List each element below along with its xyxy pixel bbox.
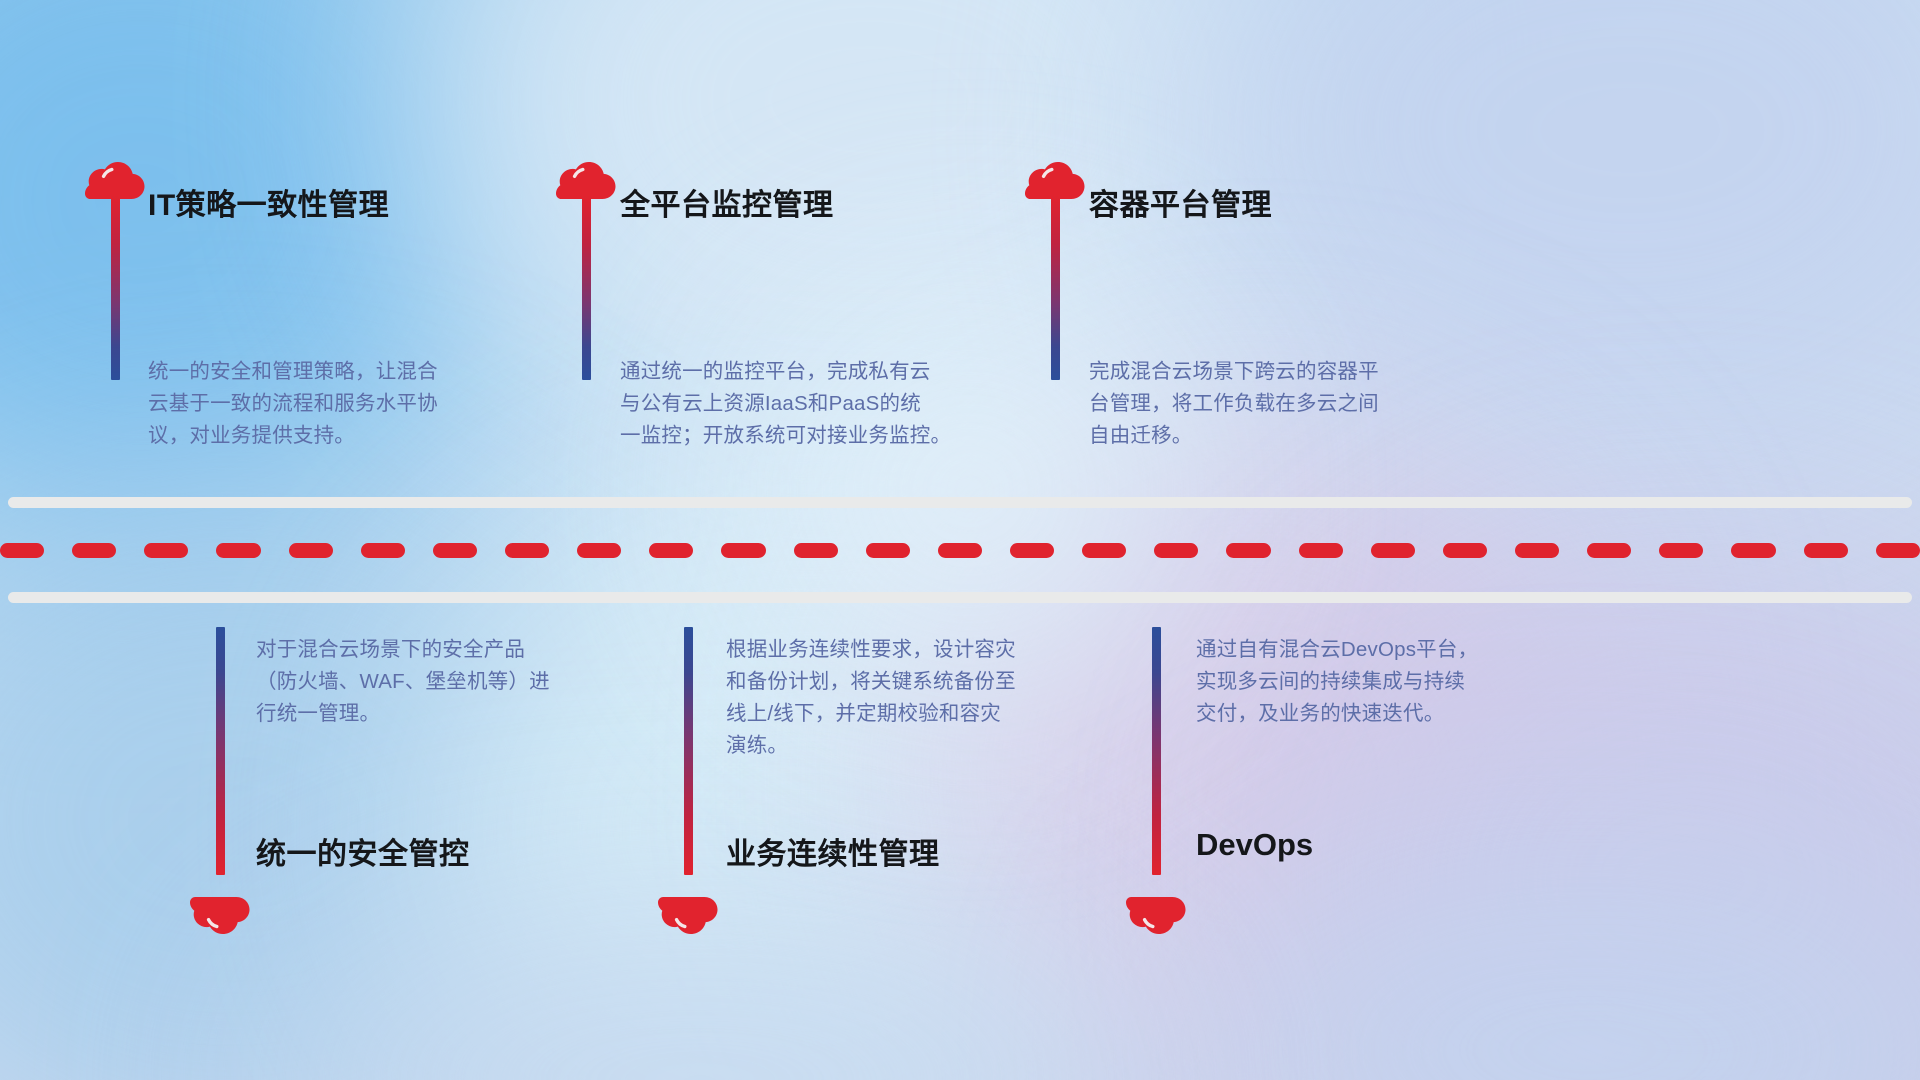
divider-dash: [1154, 543, 1198, 558]
divider-dash: [1876, 543, 1920, 558]
divider-dash: [0, 543, 44, 558]
infographic-canvas: IT策略一致性管理 统一的安全和管理策略，让混合 云基于一致的流程和服务水平协 …: [0, 0, 1920, 1080]
divider-dash: [505, 543, 549, 558]
divider-dash: [289, 543, 333, 558]
accent-bar: [1051, 196, 1060, 380]
cloud-icon: [556, 152, 618, 200]
cloud-icon: [658, 896, 720, 944]
card-body: 统一的安全和管理策略，让混合 云基于一致的流程和服务水平协 议，对业务提供支持。: [148, 356, 508, 452]
accent-bar: [582, 196, 591, 380]
card-body: 通过自有混合云DevOps平台， 实现多云间的持续集成与持续 交付，及业务的快速…: [1196, 634, 1556, 730]
card-title: 全平台监控管理: [620, 180, 834, 224]
accent-bar: [111, 196, 120, 380]
card-title: 业务连续性管理: [726, 829, 940, 873]
accent-bar: [216, 627, 225, 875]
cloud-icon: [190, 896, 252, 944]
divider-dash: [144, 543, 188, 558]
divider-dash: [649, 543, 693, 558]
divider-dash: [1082, 543, 1126, 558]
divider-dash: [866, 543, 910, 558]
divider-dash: [1587, 543, 1631, 558]
cloud-icon: [85, 152, 147, 200]
accent-bar: [684, 627, 693, 875]
divider-dash: [216, 543, 260, 558]
card-body: 根据业务连续性要求，设计容灾 和备份计划，将关键系统备份至 线上/线下，并定期校…: [726, 634, 1096, 762]
divider-line-top: [8, 497, 1912, 508]
dashed-separator: [0, 542, 1920, 558]
divider-dash: [1226, 543, 1270, 558]
divider-dash: [577, 543, 621, 558]
divider-dash: [361, 543, 405, 558]
cloud-icon: [1126, 896, 1188, 944]
divider-dash: [1515, 543, 1559, 558]
card-body: 通过统一的监控平台，完成私有云 与公有云上资源IaaS和PaaS的统 一监控；开…: [620, 356, 1010, 452]
divider-dash: [938, 543, 982, 558]
card-title: 统一的安全管控: [256, 829, 470, 873]
divider-dash: [433, 543, 477, 558]
divider-dash: [1299, 543, 1343, 558]
card-title: IT策略一致性管理: [148, 180, 389, 224]
divider-dash: [1659, 543, 1703, 558]
card-title: 容器平台管理: [1089, 180, 1272, 224]
divider-line-bottom: [8, 592, 1912, 603]
accent-bar: [1152, 627, 1161, 875]
divider-dash: [794, 543, 838, 558]
card-body: 对于混合云场景下的安全产品 （防火墙、WAF、堡垒机等）进 行统一管理。: [256, 634, 616, 730]
divider-dash: [1443, 543, 1487, 558]
divider-dash: [1371, 543, 1415, 558]
divider-dash: [1804, 543, 1848, 558]
divider-dash: [721, 543, 765, 558]
cloud-icon: [1025, 152, 1087, 200]
card-body: 完成混合云场景下跨云的容器平 台管理，将工作负载在多云之间 自由迁移。: [1089, 356, 1464, 452]
card-title: DevOps: [1196, 827, 1313, 863]
divider-dash: [1010, 543, 1054, 558]
divider-dash: [72, 543, 116, 558]
divider-dash: [1731, 543, 1775, 558]
